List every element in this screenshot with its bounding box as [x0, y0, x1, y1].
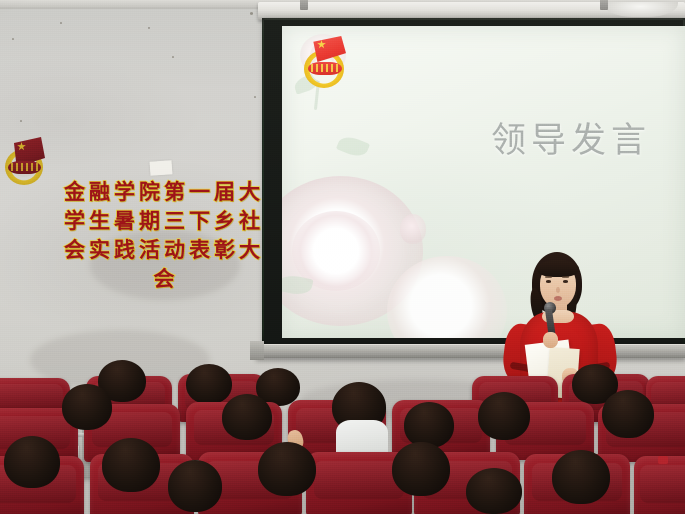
red-object-on-seat — [658, 456, 668, 464]
audience-head — [62, 384, 112, 430]
slide-youth-league-emblem — [302, 34, 356, 90]
flower-bud — [400, 214, 426, 244]
leaf-shape — [336, 133, 370, 160]
eye — [546, 280, 551, 283]
photo-scene: 金融学院第一届大 学生暑期三下乡社 会实践活动表彰大 会 领导发言 — [0, 0, 685, 514]
wall-speck — [20, 120, 22, 122]
banner-line-3: 会实践活动表彰大 — [48, 236, 280, 265]
wall-speck — [12, 38, 14, 40]
sign-tape — [150, 160, 173, 176]
audience-head — [552, 450, 610, 504]
banner-line-1: 金融学院第一届大 — [48, 178, 280, 207]
wall-banner-text: 金融学院第一届大 学生暑期三下乡社 会实践活动表彰大 会 — [48, 178, 280, 294]
wall-speck — [148, 27, 150, 29]
audience-head — [258, 442, 316, 496]
wall-speck — [250, 12, 253, 15]
wall-youth-league-emblem — [5, 137, 49, 187]
audience-area — [0, 398, 685, 514]
wall-speck — [254, 96, 256, 98]
banner-line-4: 会 — [48, 265, 280, 294]
ceiling-fixture-icon — [603, 2, 678, 17]
roller-bracket — [600, 0, 608, 10]
eyebrow — [545, 276, 552, 278]
audience-head — [4, 436, 60, 488]
wall-speck — [172, 56, 174, 58]
mouth — [554, 296, 562, 301]
wall-speck — [60, 22, 62, 24]
audience-head — [404, 402, 454, 448]
audience-head — [222, 394, 272, 440]
emblem-band-text — [311, 64, 339, 72]
eye — [563, 280, 568, 283]
audience-head — [602, 390, 654, 438]
audience-head — [466, 468, 522, 514]
audience-head — [478, 392, 530, 440]
audience-head — [102, 438, 160, 492]
hand-holding-microphone — [543, 332, 558, 348]
slide-title: 领导发言 — [491, 112, 651, 163]
hair-fringe — [537, 260, 579, 277]
banner-line-2: 学生暑期三下乡社 — [48, 207, 280, 236]
audience-head — [168, 460, 222, 512]
audience-head — [392, 442, 450, 496]
seat[interactable] — [634, 456, 685, 514]
eyebrow — [562, 276, 569, 278]
nose — [556, 287, 560, 293]
emblem-band-text — [11, 163, 38, 171]
chalk-ledge-end-cap — [250, 341, 264, 360]
roller-bracket — [300, 0, 308, 10]
audience-head — [186, 364, 232, 404]
